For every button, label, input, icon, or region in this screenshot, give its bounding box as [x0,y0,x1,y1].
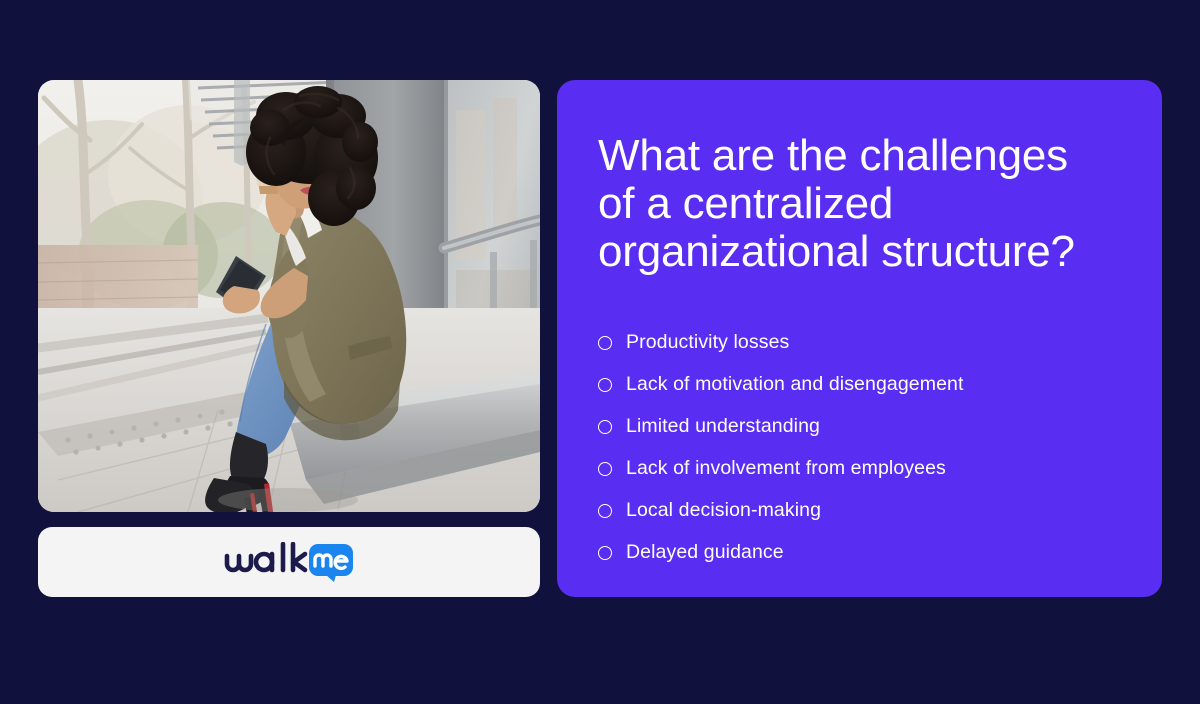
challenges-card: What are the challenges of a centralized… [557,80,1162,597]
hero-photo-image [38,80,540,512]
list-item: Lack of involvement from employees [598,448,1122,490]
left-column [38,80,540,597]
walkme-logo [223,542,355,582]
list-item-label: Productivity losses [626,331,789,354]
circle-bullet-icon [598,462,612,476]
circle-bullet-icon [598,420,612,434]
list-item: Delayed guidance [598,532,1122,574]
page-title: What are the challenges of a centralized… [598,132,1098,276]
list-item-label: Lack of motivation and disengagement [626,373,963,396]
challenges-list: Productivity losses Lack of motivation a… [598,322,1122,574]
brand-logo-card [38,527,540,597]
list-item: Lack of motivation and disengagement [598,364,1122,406]
circle-bullet-icon [598,546,612,560]
circle-bullet-icon [598,378,612,392]
circle-bullet-icon [598,336,612,350]
infographic-canvas: What are the challenges of a centralized… [0,0,1200,704]
list-item: Local decision-making [598,490,1122,532]
list-item: Limited understanding [598,406,1122,448]
list-item: Productivity losses [598,322,1122,364]
list-item-label: Lack of involvement from employees [626,457,946,480]
list-item-label: Limited understanding [626,415,820,438]
list-item-label: Local decision-making [626,499,821,522]
circle-bullet-icon [598,504,612,518]
walkme-logo-icon [223,542,355,582]
hero-photo-card [38,80,540,512]
list-item-label: Delayed guidance [626,541,784,564]
